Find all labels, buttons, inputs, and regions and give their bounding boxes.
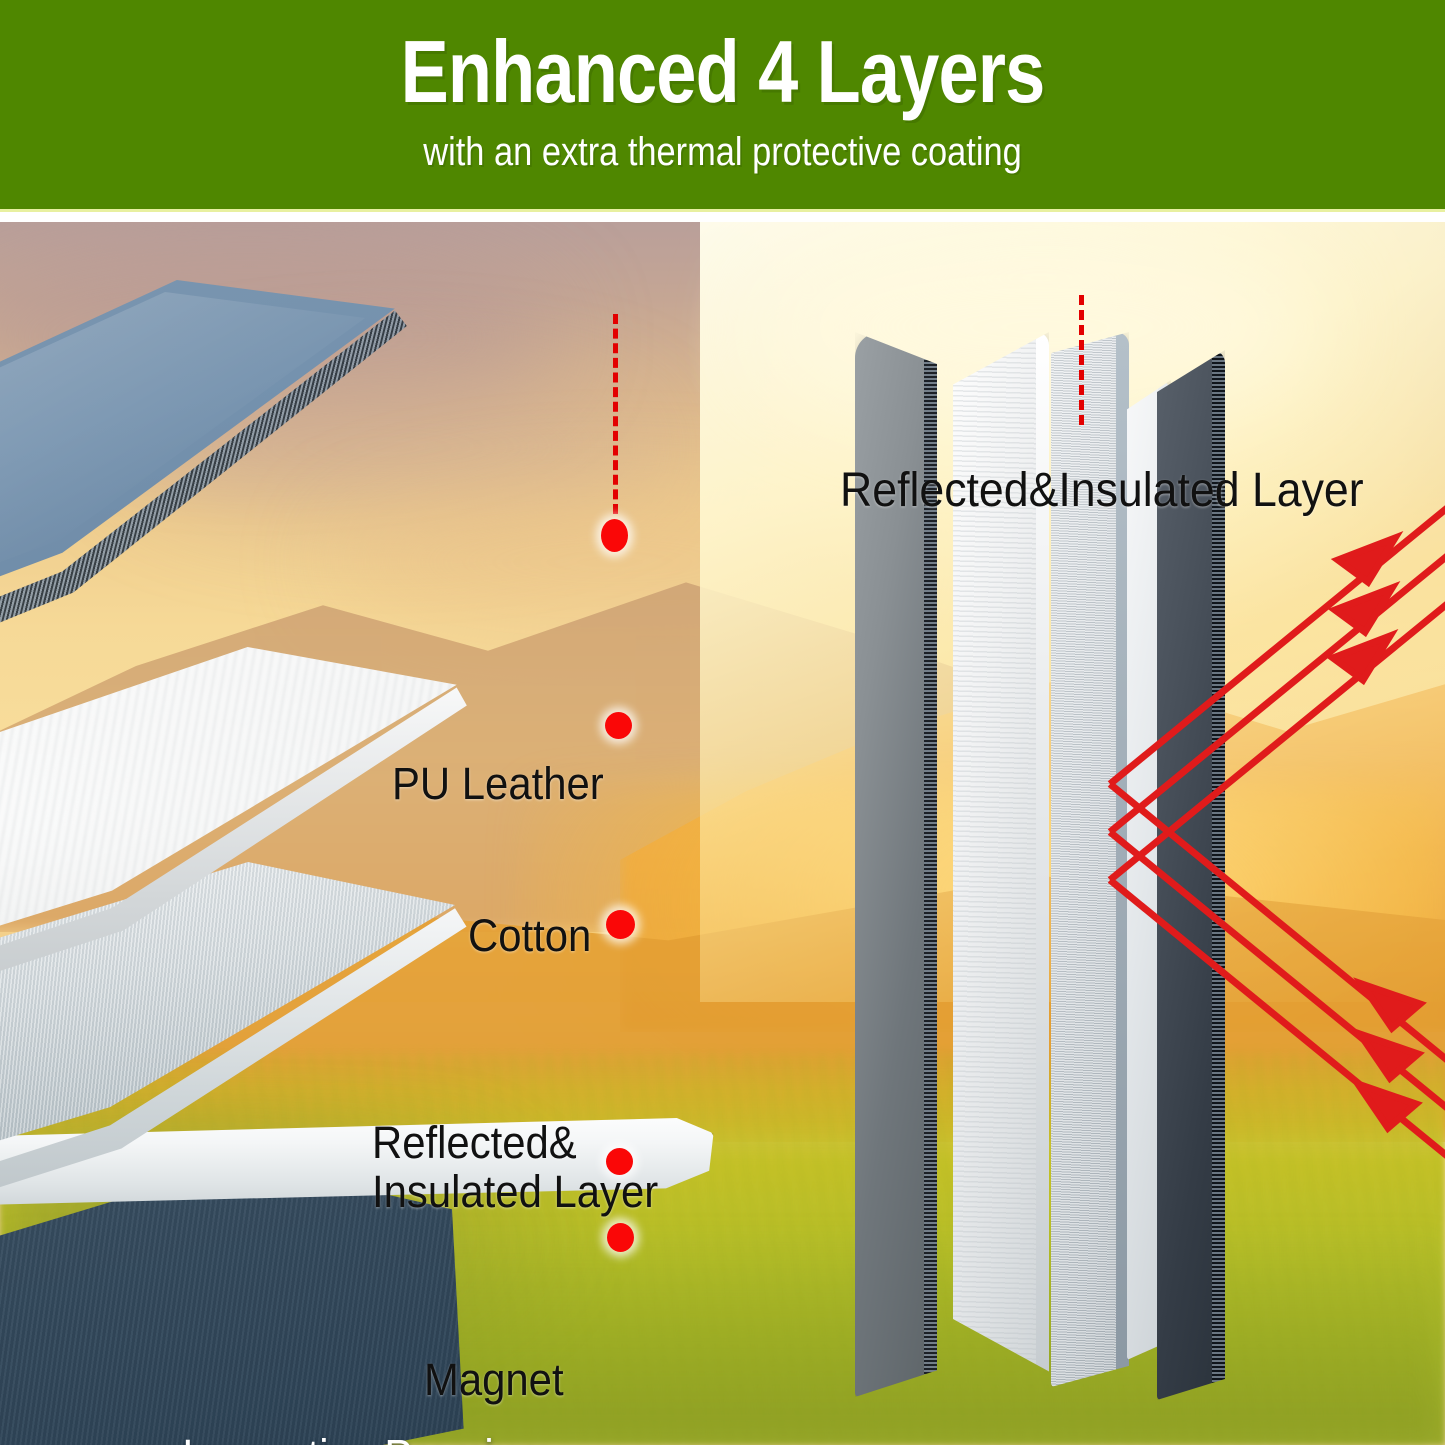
product-scene: PU Leather Cotton Reflected& Insulated L… (0, 222, 1445, 1445)
label-innovative-premium-fabric: Innovative Premium Fabric (182, 1432, 552, 1445)
label-pu-leather: PU Leather (392, 760, 604, 809)
page-title: Enhanced 4 Layers (130, 28, 1315, 116)
banner-divider (0, 209, 1445, 212)
callout-line-pu-leather (613, 314, 618, 514)
infographic-page: Enhanced 4 Layers with an extra thermal … (0, 0, 1445, 1445)
label-magnet: Magnet (424, 1356, 564, 1405)
label-reflected-insulated: Reflected& Insulated Layer (372, 1119, 658, 1216)
callout-dot-fabric (607, 1223, 634, 1252)
page-subtitle: with an extra thermal protective coating (101, 130, 1344, 175)
callout-dot-reflected-insulated (606, 910, 635, 939)
label-stack-reflected-insulated-layer: Reflected&Insulated Layer (840, 465, 1364, 517)
label-reflected-insulated-line1: Reflected& (372, 1119, 658, 1168)
header-banner: Enhanced 4 Layers with an extra thermal … (0, 0, 1445, 212)
callout-dot-pu-leather (601, 519, 628, 552)
label-reflected-insulated-line2: Insulated Layer (372, 1168, 658, 1217)
callout-dot-cotton (605, 712, 632, 739)
label-fabric-line1: Innovative Premium (182, 1432, 552, 1445)
label-cotton: Cotton (468, 912, 591, 961)
callout-line-stack-reflected-insulated (1079, 295, 1084, 425)
